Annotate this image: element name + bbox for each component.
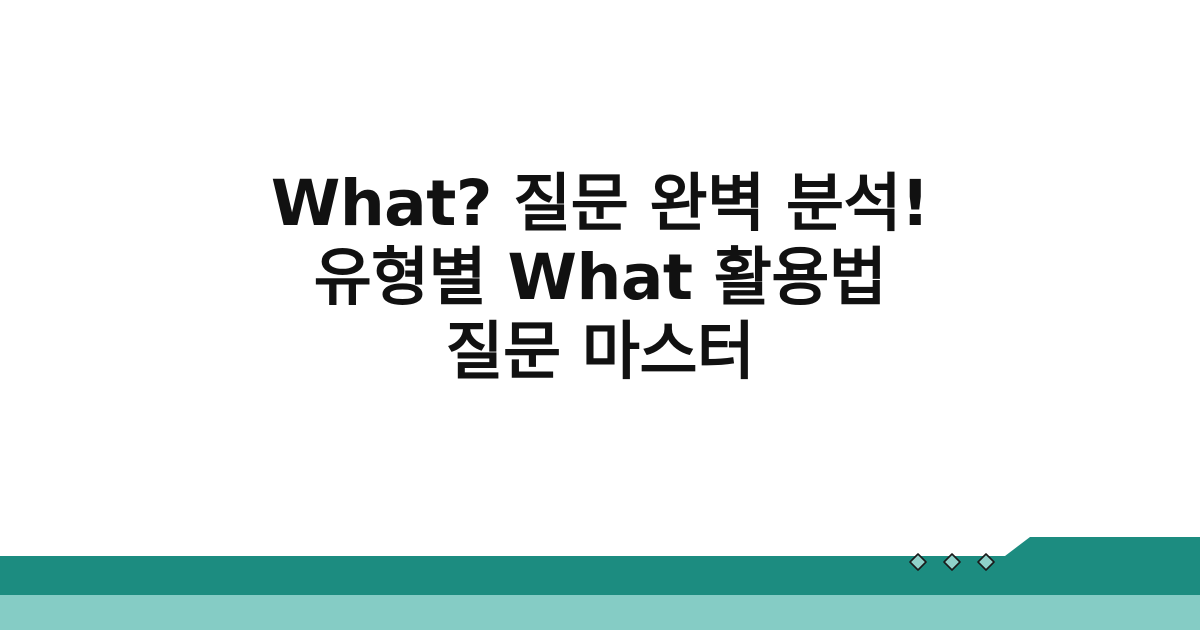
bottom-decoration-bands [0,520,1200,630]
diamond-ornament-group [908,550,1000,574]
title-area: What? 질문 완벽 분석! 유형별 What 활용법 질문 마스터 [0,0,1200,556]
page-title: What? 질문 완벽 분석! 유형별 What 활용법 질문 마스터 [250,167,950,388]
light-teal-band [0,595,1200,630]
diamond-icon [942,552,962,572]
poster-card: What? 질문 완벽 분석! 유형별 What 활용법 질문 마스터 [0,0,1200,630]
diamond-icon [976,552,996,572]
diamond-icon [908,552,928,572]
dark-teal-band [0,537,1200,595]
